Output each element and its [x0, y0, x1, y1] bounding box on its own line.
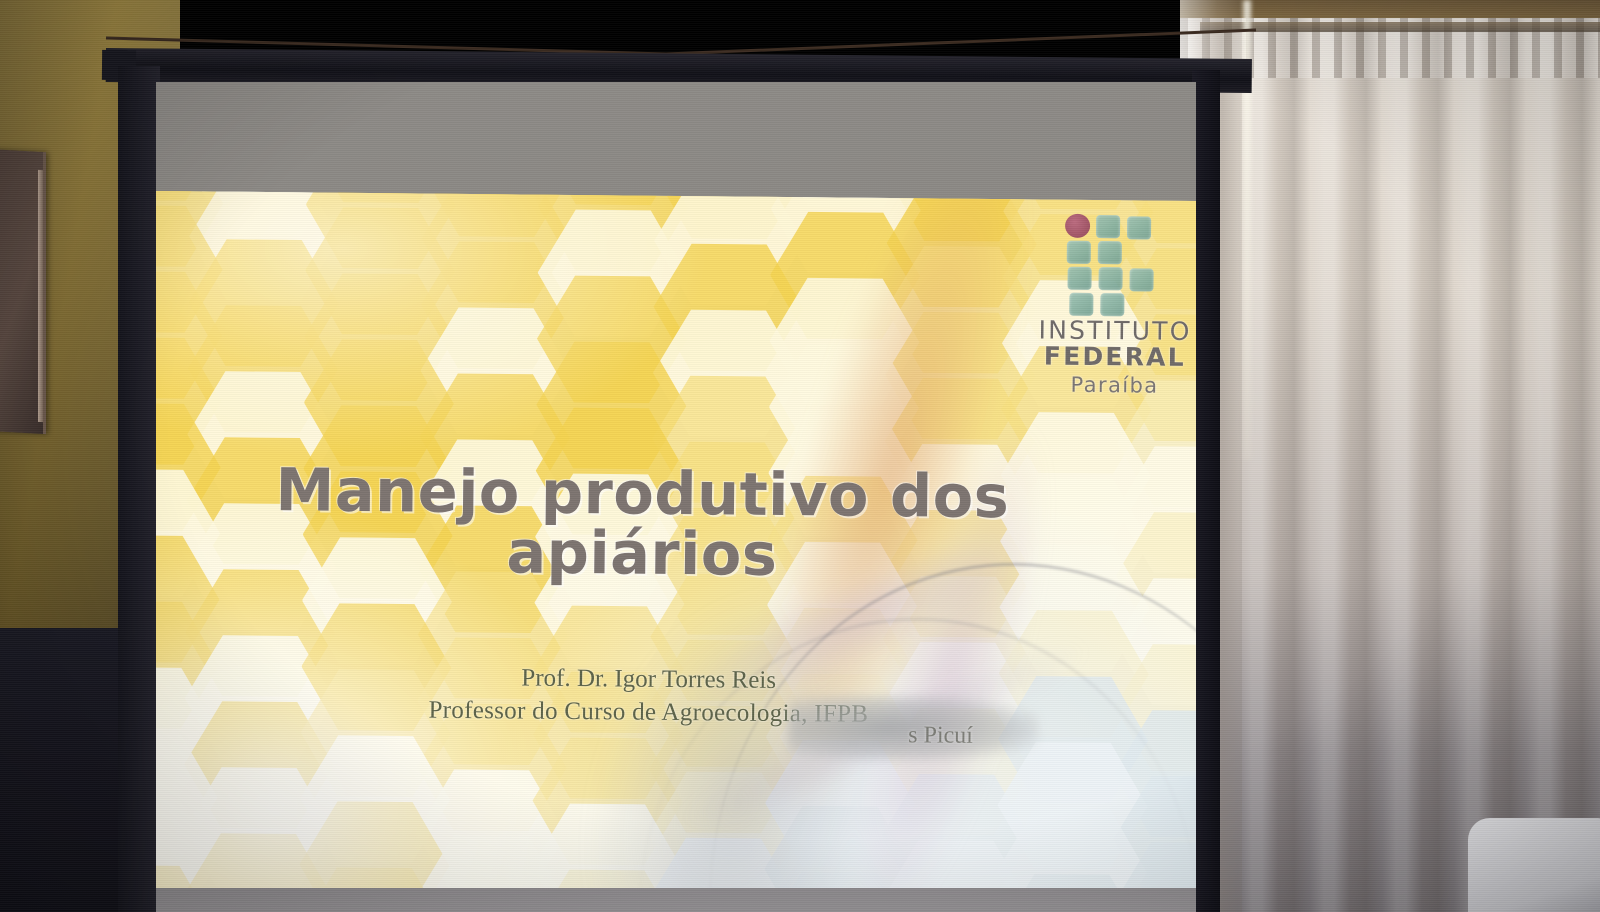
ifpb-logo-line-1: INSTITUTO: [1020, 317, 1196, 344]
ifpb-logo-wordmark: INSTITUTO FEDERAL Paraíba: [1019, 317, 1196, 398]
screen-fabric-below-slide: [156, 888, 1196, 912]
projected-slide: INSTITUTO FEDERAL Paraíba Manejo produti…: [156, 191, 1196, 901]
room-photo-scene: INSTITUTO FEDERAL Paraíba Manejo produti…: [0, 0, 1600, 912]
ifpb-mark-square: [1069, 293, 1093, 316]
slide-title-line-1: Manejo produtivo dos: [262, 460, 1023, 527]
ifpb-mark-square: [1098, 267, 1122, 290]
projection-screen: INSTITUTO FEDERAL Paraíba Manejo produti…: [106, 48, 1254, 912]
slide-title-line-2: apiários: [262, 520, 1023, 587]
ifpb-logo: INSTITUTO FEDERAL Paraíba: [1019, 207, 1196, 409]
ifpb-mark-square: [1127, 216, 1151, 239]
ifpb-mark-square: [1067, 241, 1091, 264]
ifpb-mark-square: [1067, 267, 1091, 290]
ifpb-mark-icon: [1064, 214, 1161, 319]
slide-subtitle-occluded-fragment: s Picuí: [908, 722, 973, 750]
ifpb-mark-square: [1096, 215, 1120, 238]
ifpb-logo-line-3: Paraíba: [1019, 372, 1196, 398]
screen-left-rail: [118, 66, 160, 912]
wall-panel-rod: [38, 170, 43, 422]
screen-right-rail: [1192, 70, 1220, 912]
ifpb-mark-circle: [1065, 214, 1090, 238]
foreground-object: [1468, 818, 1600, 912]
ifpb-mark-square: [1100, 293, 1124, 316]
ifpb-mark-square: [1098, 241, 1122, 264]
ifpb-logo-line-2: FEDERAL: [1020, 343, 1196, 371]
slide-title: Manejo produtivo dos apiários: [262, 460, 1023, 588]
screen-fabric: INSTITUTO FEDERAL Paraíba Manejo produti…: [156, 82, 1196, 912]
ifpb-mark-square: [1129, 268, 1153, 291]
